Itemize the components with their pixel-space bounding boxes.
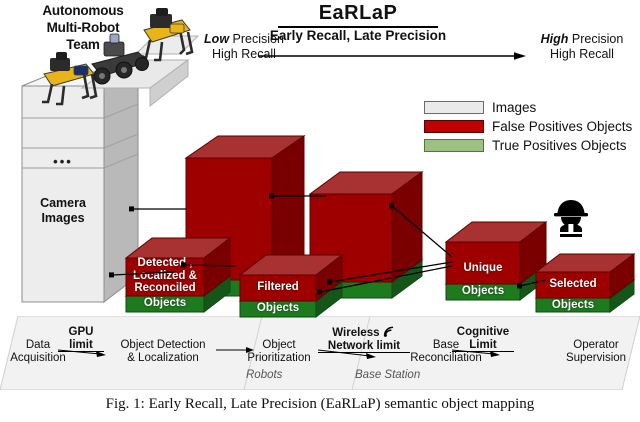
supervision-line2: Supervision xyxy=(556,352,636,365)
zone-label-robots: Robots xyxy=(246,369,282,381)
gpu-limit-line1: GPU xyxy=(58,326,104,339)
wifi-icon xyxy=(383,326,396,337)
pipeline-arrow-acq-det xyxy=(58,348,108,358)
figure-canvas: ••• Camera Images xyxy=(0,0,640,422)
stage-label-supervision: Operator Supervision xyxy=(556,339,636,364)
supervision-line1: Operator xyxy=(556,339,636,352)
pipeline-arrow-pri-rec xyxy=(318,348,380,360)
network-limit-line1: Wireless xyxy=(318,326,410,340)
zone-label-base-station: Base Station xyxy=(355,369,420,381)
detection-line1: Object Detection xyxy=(108,339,218,352)
figure-caption: Fig. 1: Early Recall, Late Precision (Ea… xyxy=(0,396,640,413)
pipeline-arrow-det-pri xyxy=(216,346,256,356)
pipeline-arrow-rec-sup xyxy=(452,348,502,358)
detection-line2: & Localization xyxy=(108,352,218,365)
cognitive-limit-line1: Cognitive xyxy=(452,326,514,339)
network-limit-text: Wireless xyxy=(332,327,379,339)
stage-label-detection: Object Detection & Localization xyxy=(108,339,218,364)
